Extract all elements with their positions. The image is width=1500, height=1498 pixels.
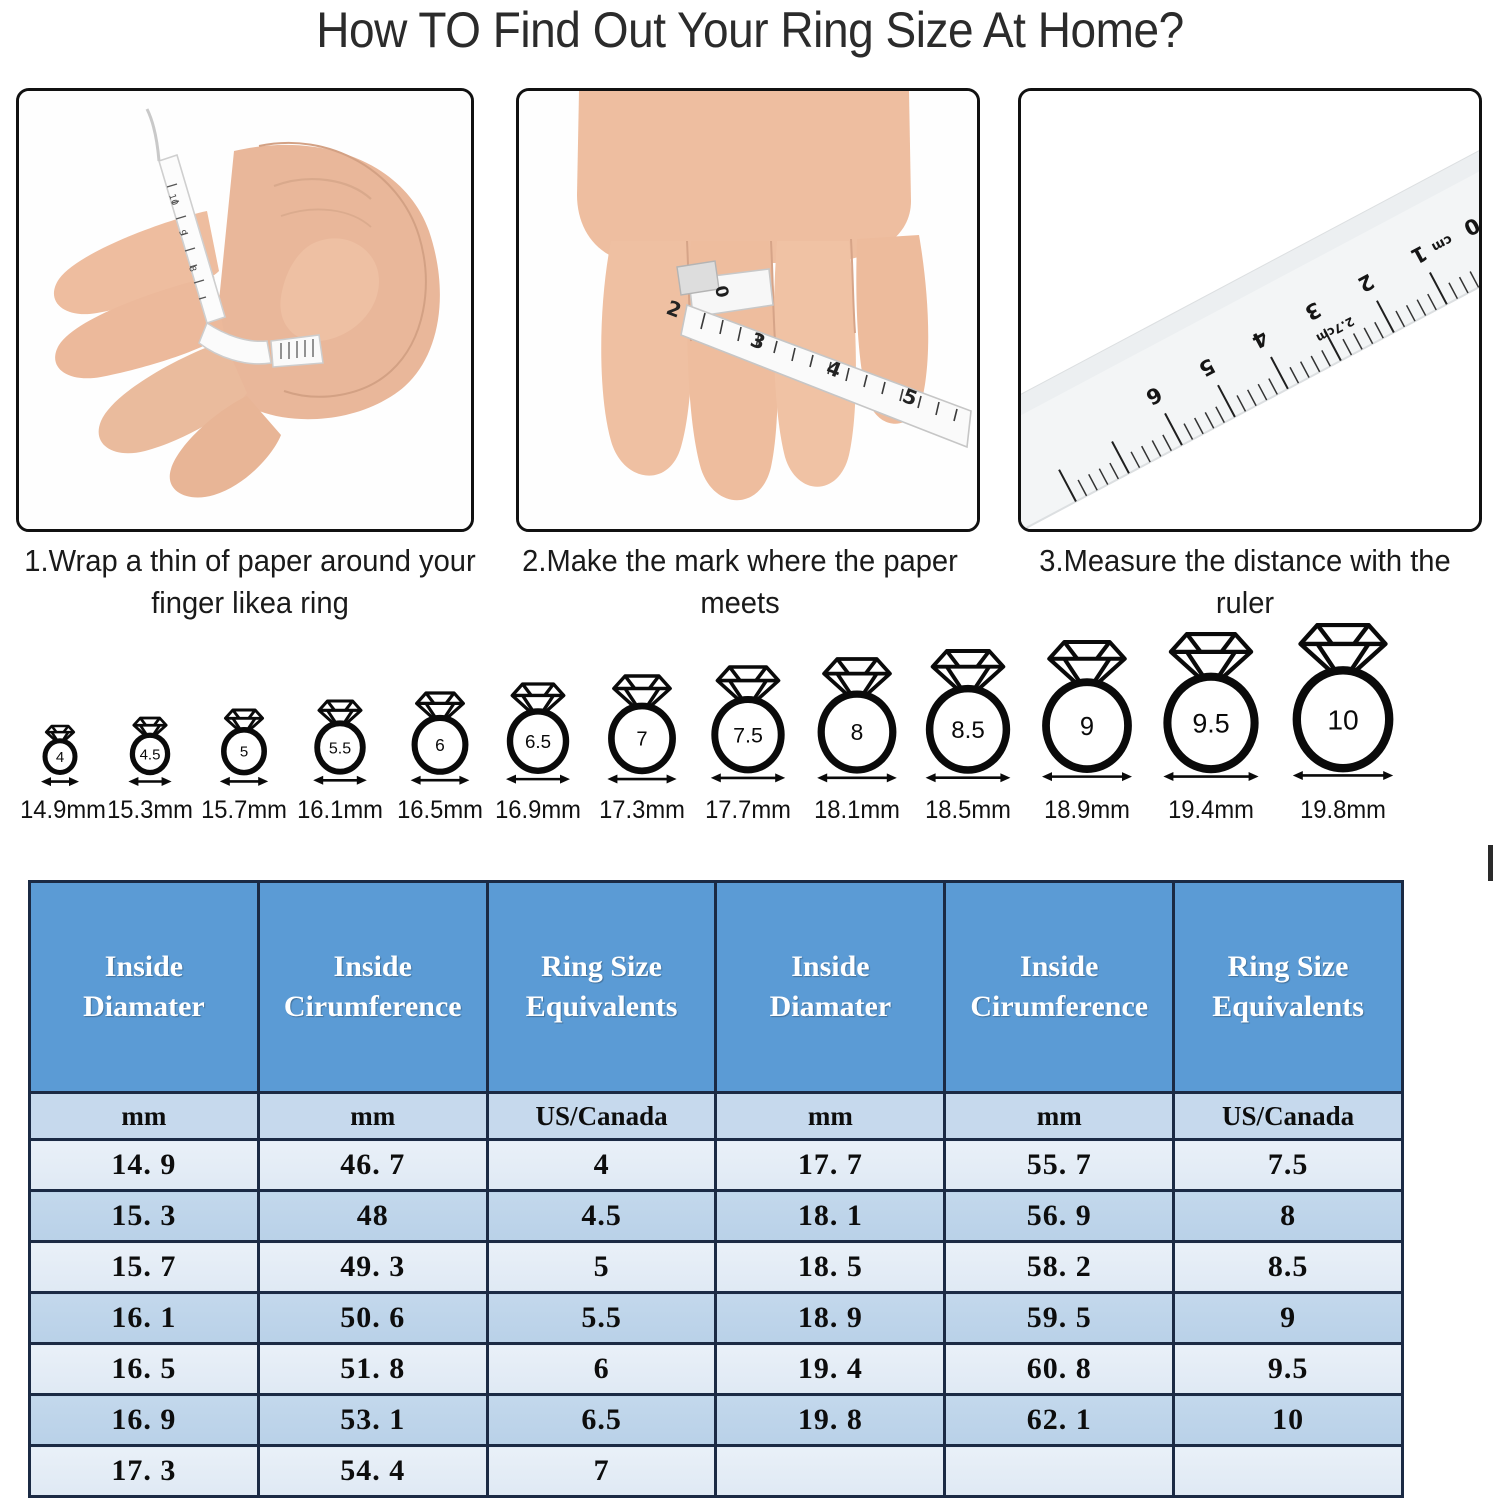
ring-size-mm-label: 16.1mm	[293, 796, 388, 824]
table-cell	[945, 1446, 1174, 1497]
header-line-2: Equivalents	[1175, 987, 1401, 1027]
unit-cell-4: mm	[716, 1093, 945, 1140]
header-line-1: Inside	[717, 947, 943, 987]
table-row: 14. 946. 7417. 755. 77.5	[30, 1140, 1403, 1191]
ring-size-mm-label: 16.5mm	[391, 796, 490, 824]
ring-icon: 5.5	[290, 699, 390, 795]
table-cell: 51. 8	[258, 1344, 487, 1395]
table-cell	[716, 1446, 945, 1497]
table-cell: 6.5	[487, 1395, 716, 1446]
table-cell: 4	[487, 1140, 716, 1191]
table-cell: 8	[1174, 1191, 1403, 1242]
table-cell: 17. 3	[30, 1446, 259, 1497]
ring-size-item: 5.516.1mm	[290, 699, 390, 824]
instruction-photo-row: 10 9 8	[0, 88, 1500, 528]
ring-icon: 4	[18, 724, 102, 795]
ring-size-item: 1019.8mm	[1268, 623, 1418, 824]
table-cell: 19. 8	[716, 1395, 945, 1446]
table-cell: 8.5	[1174, 1242, 1403, 1293]
table-unit-row: mm mm US/Canada mm mm US/Canada	[30, 1093, 1403, 1140]
ring-icon: 7	[586, 674, 698, 795]
table-cell: 18. 9	[716, 1293, 945, 1344]
ring-size-item: 918.9mm	[1020, 640, 1154, 824]
header-ring-size-equivalents-1: Ring Size Equivalents	[487, 882, 716, 1093]
header-inside-diameter-2: Inside Diamater	[716, 882, 945, 1093]
table-cell: 4.5	[487, 1191, 716, 1242]
ring-size-mm-label: 16.9mm	[487, 796, 590, 824]
table-cell: 5	[487, 1242, 716, 1293]
ring-size-mm-label: 14.9mm	[20, 796, 100, 824]
table-cell: 46. 7	[258, 1140, 487, 1191]
svg-text:7: 7	[636, 729, 647, 751]
step-2-photo-tape-measure-on-finger: 2 3 4 5 0	[516, 88, 980, 532]
table-cell: 48	[258, 1191, 487, 1242]
ring-icon: 8	[796, 657, 918, 795]
header-line-2: Diamater	[717, 987, 943, 1027]
step-3-photo-ruler: 0 1 2 3 4 5 6 cm 2.7cm	[1018, 88, 1482, 532]
table-cell: 7.5	[1174, 1140, 1403, 1191]
table-cell: 19. 4	[716, 1344, 945, 1395]
header-line-2: Diamater	[31, 987, 257, 1027]
svg-text:6.5: 6.5	[525, 731, 551, 752]
ring-icon: 10	[1268, 623, 1418, 795]
ring-size-item: 4.515.3mm	[104, 716, 196, 824]
ring-size-mm-label: 18.9mm	[1023, 796, 1150, 824]
ring-icon: 9.5	[1140, 632, 1282, 795]
step-2-caption: 2.Make the mark where the paper meets	[519, 540, 961, 624]
unit-cell-2: mm	[258, 1093, 487, 1140]
ring-size-item: 515.7mm	[196, 708, 292, 824]
table-cell: 15. 3	[30, 1191, 259, 1242]
ring-size-guide-page: How TO Find Out Your Ring Size At Home?	[0, 0, 1500, 1431]
table-cell: 7	[487, 1446, 716, 1497]
header-line-2: Equivalents	[489, 987, 715, 1027]
ring-icon: 7.5	[690, 665, 806, 795]
ring-size-scale: 414.9mm4.515.3mm515.7mm5.516.1mm616.5mm6…	[0, 632, 1500, 824]
hand-with-tape-measure-illustration: 2 3 4 5 0	[519, 91, 977, 529]
svg-text:8.5: 8.5	[951, 717, 985, 744]
step-1-caption: 1.Wrap a thin of paper around your finge…	[15, 540, 485, 624]
ring-size-mm-label: 19.8mm	[1272, 796, 1415, 824]
step-3-caption: 3.Measure the distance with the ruler	[1015, 540, 1476, 624]
ring-size-item: 717.3mm	[586, 674, 698, 824]
table-cell: 18. 1	[716, 1191, 945, 1242]
header-line-1: Inside	[260, 947, 486, 987]
ring-size-item: 818.1mm	[796, 657, 918, 824]
svg-text:4: 4	[56, 749, 64, 766]
step-captions-row: 1.Wrap a thin of paper around your finge…	[0, 540, 1500, 630]
table-cell: 62. 1	[945, 1395, 1174, 1446]
table-row: 16. 551. 8619. 460. 89.5	[30, 1344, 1403, 1395]
ring-size-mm-label: 19.4mm	[1144, 796, 1279, 824]
table-cell: 16. 9	[30, 1395, 259, 1446]
table-cell: 16. 1	[30, 1293, 259, 1344]
ring-icon: 6.5	[484, 682, 592, 795]
table-cell: 59. 5	[945, 1293, 1174, 1344]
ring-icon: 9	[1020, 640, 1154, 795]
ring-size-item: 8.518.5mm	[904, 649, 1032, 824]
table-cell: 58. 2	[945, 1242, 1174, 1293]
ring-icon: 6	[388, 691, 492, 795]
svg-text:5.5: 5.5	[329, 739, 351, 757]
header-line-2: Cirumference	[946, 987, 1172, 1027]
table-cell: 14. 9	[30, 1140, 259, 1191]
svg-text:4.5: 4.5	[140, 746, 161, 763]
ring-icon: 8.5	[904, 649, 1032, 795]
ring-size-mm-label: 18.1mm	[799, 796, 915, 824]
svg-text:5: 5	[240, 743, 248, 760]
table-row: 17. 354. 47	[30, 1446, 1403, 1497]
header-line-1: Inside	[946, 947, 1172, 987]
header-inside-diameter-1: Inside Diamater	[30, 882, 259, 1093]
table-row: 15. 3484.518. 156. 98	[30, 1191, 1403, 1242]
svg-text:8: 8	[851, 719, 864, 745]
table-cell	[1174, 1446, 1403, 1497]
svg-text:7.5: 7.5	[733, 724, 763, 748]
table-body: 14. 946. 7417. 755. 77.515. 3484.518. 15…	[30, 1140, 1403, 1497]
table-cell: 6	[487, 1344, 716, 1395]
ring-icon: 5	[196, 708, 292, 795]
ring-size-mm-label: 18.5mm	[907, 796, 1029, 824]
svg-text:6: 6	[435, 735, 445, 755]
header-ring-size-equivalents-2: Ring Size Equivalents	[1174, 882, 1403, 1093]
table-cell: 10	[1174, 1395, 1403, 1446]
table-cell: 9	[1174, 1293, 1403, 1344]
page-title: How TO Find Out Your Ring Size At Home?	[60, 2, 1440, 58]
header-inside-circumference-2: Inside Cirumference	[945, 882, 1174, 1093]
edge-artifact-mark	[1488, 845, 1493, 881]
table-header-row: Inside Diamater Inside Cirumference Ring…	[30, 882, 1403, 1093]
table-row: 15. 749. 3518. 558. 28.5	[30, 1242, 1403, 1293]
unit-cell-3: US/Canada	[487, 1093, 716, 1140]
transparent-ruler-illustration: 0 1 2 3 4 5 6 cm 2.7cm	[1021, 91, 1479, 529]
table-cell: 9.5	[1174, 1344, 1403, 1395]
svg-text:9.5: 9.5	[1192, 708, 1229, 738]
ring-size-item: 616.5mm	[388, 691, 492, 824]
table-cell: 54. 4	[258, 1446, 487, 1497]
svg-text:9: 9	[1080, 713, 1094, 741]
header-line-2: Cirumference	[260, 987, 486, 1027]
ring-size-mm-label: 15.3mm	[106, 796, 193, 824]
ring-size-mm-label: 17.3mm	[589, 796, 695, 824]
table-cell: 15. 7	[30, 1242, 259, 1293]
table-cell: 56. 9	[945, 1191, 1174, 1242]
ring-size-mm-label: 17.7mm	[693, 796, 803, 824]
unit-cell-1: mm	[30, 1093, 259, 1140]
ring-size-mm-label: 15.7mm	[198, 796, 289, 824]
table-cell: 60. 8	[945, 1344, 1174, 1395]
svg-text:10: 10	[1327, 704, 1358, 736]
ring-size-conversion-table: Inside Diamater Inside Cirumference Ring…	[28, 880, 1404, 1498]
table-cell: 18. 5	[716, 1242, 945, 1293]
ring-size-item: 7.517.7mm	[690, 665, 806, 824]
table-cell: 5.5	[487, 1293, 716, 1344]
header-line-1: Ring Size	[1175, 947, 1401, 987]
header-inside-circumference-1: Inside Cirumference	[258, 882, 487, 1093]
table-cell: 17. 7	[716, 1140, 945, 1191]
header-line-1: Ring Size	[489, 947, 715, 987]
table-cell: 55. 7	[945, 1140, 1174, 1191]
step-1-photo-hand-with-paper-strip: 10 9 8	[16, 88, 474, 532]
ring-size-item: 9.519.4mm	[1140, 632, 1282, 824]
table-row: 16. 150. 65.518. 959. 59	[30, 1293, 1403, 1344]
ring-size-item: 414.9mm	[18, 724, 102, 824]
table-cell: 49. 3	[258, 1242, 487, 1293]
table-header: Inside Diamater Inside Cirumference Ring…	[30, 882, 1403, 1140]
header-line-1: Inside	[31, 947, 257, 987]
table-cell: 50. 6	[258, 1293, 487, 1344]
table-cell: 53. 1	[258, 1395, 487, 1446]
hand-with-paper-strip-illustration: 10 9 8	[19, 91, 471, 529]
table-cell: 16. 5	[30, 1344, 259, 1395]
ring-icon: 4.5	[104, 716, 196, 795]
unit-cell-6: US/Canada	[1174, 1093, 1403, 1140]
unit-cell-5: mm	[945, 1093, 1174, 1140]
table-row: 16. 953. 16.519. 862. 110	[30, 1395, 1403, 1446]
ring-size-item: 6.516.9mm	[484, 682, 592, 824]
